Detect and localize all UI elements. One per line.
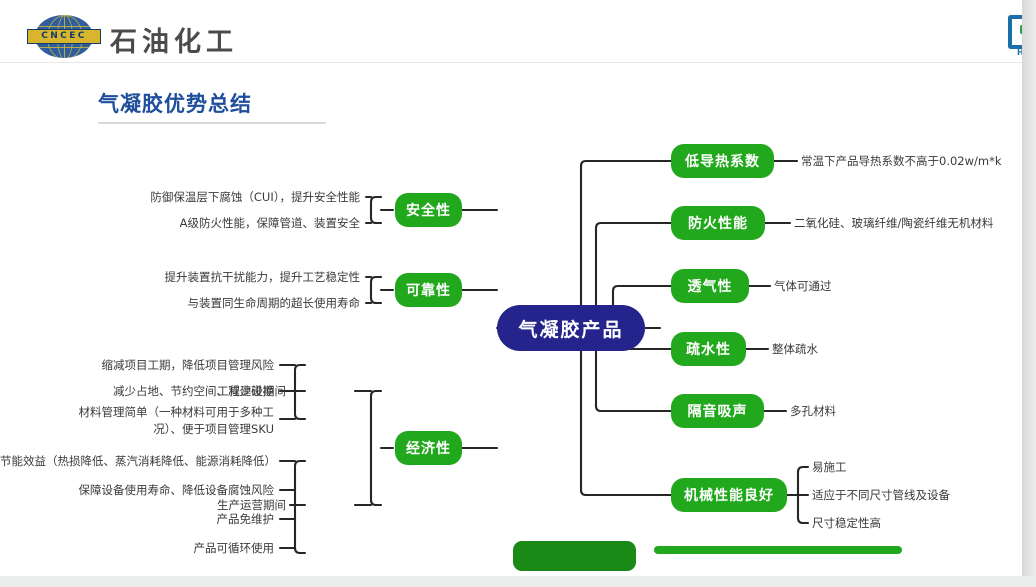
leaf-construction-1: 缩减项目工期，降低项目管理风险 (0, 358, 274, 373)
leaf-safety-1: 防御保温层下腐蚀（CUI），提升安全性能 (0, 190, 360, 205)
bottom-shape-green-bar (654, 546, 902, 554)
leaf-low-thermal-conductivity-1: 常温下产品导热系数不高于0.02w/m*k (801, 154, 1002, 169)
branch-node-breathability[interactable]: 透气性 (671, 269, 749, 303)
leaf-operation-4: 产品可循环使用 (0, 541, 274, 556)
branch-node-reliability[interactable]: 可靠性 (395, 273, 462, 307)
center-node[interactable]: 气凝胶产品 (497, 305, 645, 351)
leaf-mechanical-1: 易施工 (812, 460, 847, 475)
leaf-breathability-1: 气体可通过 (774, 279, 832, 294)
branch-node-sound-insulation[interactable]: 隔音吸声 (671, 394, 764, 428)
leaf-fire-resistance-1: 二氧化硅、玻璃纤维/陶瓷纤维无机材料 (794, 216, 993, 231)
slide-canvas: CNCEC 石油化工 HUALU 华陆新材 CNCEC Hualu New Ma… (0, 0, 1022, 576)
leaf-safety-2: A级防火性能，保障管道、装置安全 (0, 216, 360, 231)
leaf-construction-3: 材料管理简单（一种材料可用于多种工况）、便于项目管理SKU (50, 404, 274, 438)
mindmap: 气凝胶产品 安全性 可靠性 经济性 防御保温层下腐蚀（CUI），提升安全性能 A… (0, 0, 1022, 576)
leaf-reliability-2: 与装置同生命周期的超长使用寿命 (0, 296, 360, 311)
leaf-operation-1: 节能效益（热损降低、蒸汽消耗降低、能源消耗降低） (0, 454, 274, 469)
leaf-operation-2: 保障设备使用寿命、降低设备腐蚀风险 (0, 483, 274, 498)
leaf-mechanical-3: 尺寸稳定性高 (812, 516, 881, 531)
slide-right-edge (1022, 0, 1036, 576)
leaf-construction-2: 减少占地、节约空间、减少碰撞 (0, 384, 274, 399)
slide-bottom-edge (0, 576, 1036, 587)
bottom-shape-dark-green (513, 541, 636, 571)
branch-node-mechanical-performance[interactable]: 机械性能良好 (671, 478, 787, 512)
branch-node-economy[interactable]: 经济性 (395, 431, 462, 465)
leaf-mechanical-2: 适应于不同尺寸管线及设备 (812, 488, 950, 503)
leaf-sound-insulation-1: 多孔材料 (790, 404, 836, 419)
leaf-reliability-1: 提升装置抗干扰能力，提升工艺稳定性 (0, 270, 360, 285)
leaf-operation-3: 产品免维护 (0, 512, 274, 527)
branch-node-low-thermal-conductivity[interactable]: 低导热系数 (671, 144, 774, 178)
leaf-hydrophobicity-1: 整体疏水 (772, 342, 818, 357)
branch-node-safety[interactable]: 安全性 (395, 193, 462, 227)
branch-node-hydrophobicity[interactable]: 疏水性 (671, 332, 746, 366)
branch-node-fire-resistance[interactable]: 防火性能 (671, 206, 765, 240)
group-label-operation: 生产运营期间 (170, 498, 286, 513)
